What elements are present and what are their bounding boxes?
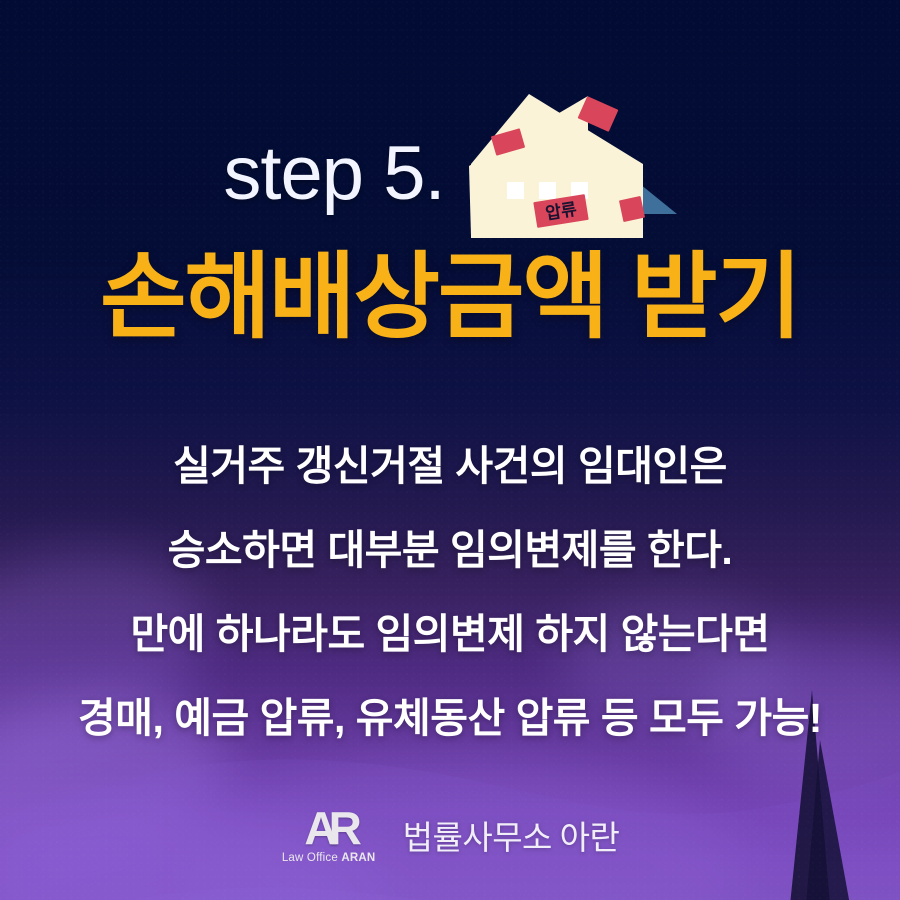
- body-line-2: 승소하면 대부분 임의변제를 한다.: [0, 508, 900, 592]
- step-label: step 5.: [223, 136, 444, 212]
- infographic-card: step 5. 압류: [0, 0, 900, 900]
- logo-subtitle-light: Law Office: [282, 852, 342, 864]
- header-row: step 5. 압류: [0, 108, 900, 228]
- seized-house-illustration: 압류: [463, 86, 677, 246]
- body-line-1: 실거주 갱신거절 사건의 임대인은: [0, 424, 900, 508]
- logo-initials: AR: [304, 806, 352, 850]
- seizure-seal-right: [619, 196, 645, 222]
- body-line-4: 경매, 예금 압류, 유체동산 압류 등 모두 가능!: [0, 676, 900, 760]
- body-paragraph: 실거주 갱신거절 사건의 임대인은 승소하면 대부분 임의변제를 한다. 만에 …: [0, 424, 900, 760]
- aran-logo: AR Law Office ARAN: [281, 806, 377, 864]
- logo-subtitle-bold: ARAN: [341, 852, 375, 864]
- house-icon: 압류: [463, 86, 677, 246]
- office-name: 법률사무소 아란: [403, 811, 620, 859]
- page-title: 손해배상금액 받기: [0, 248, 900, 347]
- logo-subtitle: Law Office ARAN: [282, 852, 376, 864]
- house-window-1: [507, 182, 524, 199]
- body-line-3: 만에 하나라도 임의변제 하지 않는다면: [0, 592, 900, 676]
- house-window-2: [539, 182, 556, 199]
- footer-branding: AR Law Office ARAN 법률사무소 아란: [0, 806, 900, 864]
